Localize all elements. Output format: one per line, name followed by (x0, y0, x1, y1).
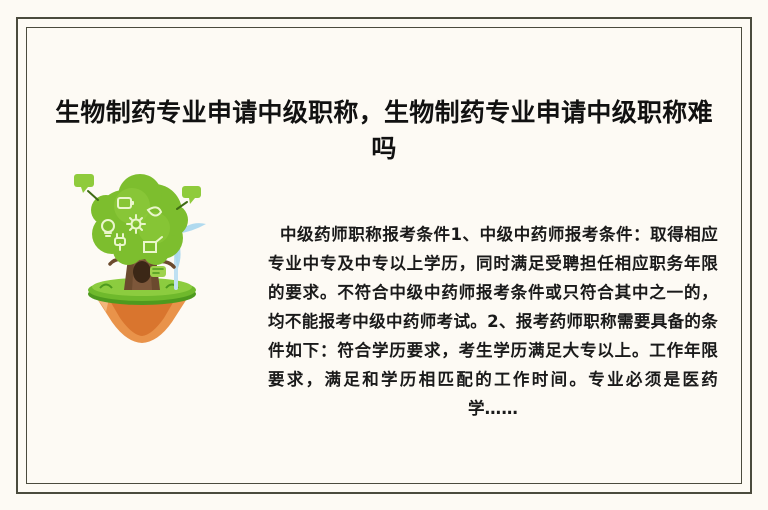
poster-page: 生物制药专业申请中级职称，生物制药专业申请中级职称难吗 (0, 0, 768, 510)
speech-bubble-icon-right (177, 186, 201, 209)
page-title: 生物制药专业申请中级职称，生物制药专业申请中级职称难吗 (52, 95, 716, 167)
speech-bubble-icon (74, 174, 98, 200)
tree-hollow-icon (133, 261, 151, 283)
article-body: 中级药师职称报考条件1、中级中药师报考条件：取得相应专业中专及中专以上学历，同时… (268, 220, 718, 423)
eco-tree-illustration (62, 172, 222, 344)
tag-icon-lower (150, 266, 166, 277)
